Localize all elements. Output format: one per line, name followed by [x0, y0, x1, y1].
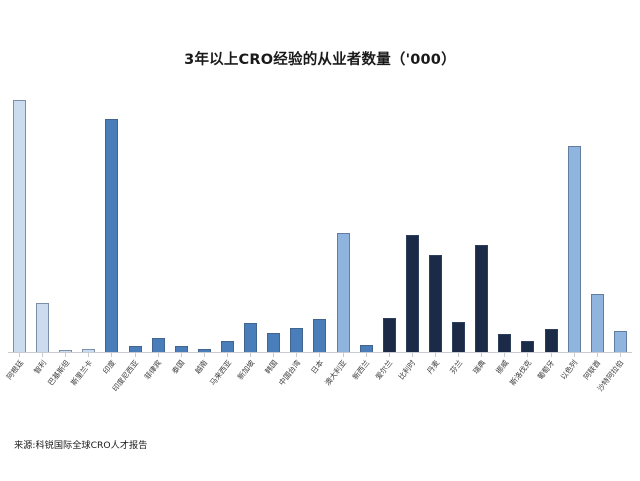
bar-slot — [193, 100, 216, 352]
x-axis-label-slot: 新加坡 — [239, 357, 262, 427]
x-axis-label-text: 丹麦 — [424, 358, 442, 376]
x-axis-label-slot: 智利 — [31, 357, 54, 427]
x-axis-label-text: 瑞典 — [470, 358, 488, 376]
bar-slot — [239, 100, 262, 352]
bar-slot — [447, 100, 470, 352]
x-axis-label-text: 阿根廷 — [3, 358, 25, 382]
bar-slot — [516, 100, 539, 352]
x-axis-label-text: 越南 — [193, 358, 211, 376]
bar-slot — [147, 100, 170, 352]
bar-slot — [424, 100, 447, 352]
chart-title: 3年以上CRO经验的从业者数量（'000） — [0, 48, 640, 69]
bar-slot — [54, 100, 77, 352]
x-axis-label-slot: 爱尔兰 — [378, 357, 401, 427]
x-axis-label-slot: 以色列 — [563, 357, 586, 427]
bar-slot — [285, 100, 308, 352]
x-axis-label-slot: 挪威 — [493, 357, 516, 427]
x-axis-label-text: 韩国 — [262, 358, 280, 376]
bar[interactable] — [452, 322, 465, 352]
bar[interactable] — [290, 328, 303, 352]
x-axis-label-slot: 日本 — [308, 357, 331, 427]
bar[interactable] — [105, 119, 118, 352]
bar-slot — [563, 100, 586, 352]
chart-figure: 3年以上CRO经验的从业者数量（'000） 阿根廷智利巴基斯坦斯里兰卡印度印度尼… — [0, 0, 640, 481]
x-axis-label-slot: 沙特阿拉伯 — [609, 357, 632, 427]
x-axis-label-slot: 阿联酋 — [586, 357, 609, 427]
bar-slot — [8, 100, 31, 352]
x-axis-label-text: 日本 — [308, 358, 326, 376]
bar[interactable] — [13, 100, 26, 352]
x-axis-label-slot: 中国台湾 — [285, 357, 308, 427]
bar[interactable] — [337, 233, 350, 352]
bar-slot — [540, 100, 563, 352]
x-axis-label-slot: 巴基斯坦 — [54, 357, 77, 427]
x-axis-label-slot: 斯里兰卡 — [77, 357, 100, 427]
bar[interactable] — [568, 146, 581, 352]
x-axis-label-text: 挪威 — [493, 358, 511, 376]
x-axis-label-slot: 印度 — [100, 357, 123, 427]
x-axis-label-text: 泰国 — [170, 358, 188, 376]
bar-slot — [609, 100, 632, 352]
bar-slot — [262, 100, 285, 352]
bar[interactable] — [36, 303, 49, 352]
x-axis-label-slot: 泰国 — [170, 357, 193, 427]
x-axis-label-text: 智利 — [31, 358, 49, 376]
bar[interactable] — [475, 245, 488, 352]
bar[interactable] — [406, 235, 419, 352]
bar-slot — [100, 100, 123, 352]
bars-container — [8, 100, 632, 352]
x-axis-label-slot: 菲律宾 — [147, 357, 170, 427]
x-axis-label-slot: 比利时 — [401, 357, 424, 427]
source-note: 来源:科锐国际全球CRO人才报告 — [14, 437, 147, 451]
x-axis-label-slot: 马来西亚 — [216, 357, 239, 427]
bar-slot — [378, 100, 401, 352]
x-axis-label-slot: 新西兰 — [355, 357, 378, 427]
bar-slot — [31, 100, 54, 352]
bar-slot — [170, 100, 193, 352]
bar-slot — [401, 100, 424, 352]
x-axis-labels: 阿根廷智利巴基斯坦斯里兰卡印度印度尼西亚菲律宾泰国越南马来西亚新加坡韩国中国台湾… — [8, 357, 632, 427]
x-axis-label-slot: 丹麦 — [424, 357, 447, 427]
bar[interactable] — [591, 294, 604, 352]
x-axis-label-text: 印度 — [100, 358, 118, 376]
bar-slot — [332, 100, 355, 352]
bar-slot — [586, 100, 609, 352]
x-axis-label-slot: 韩国 — [262, 357, 285, 427]
x-axis-label-slot: 葡萄牙 — [540, 357, 563, 427]
bar-slot — [77, 100, 100, 352]
x-axis-label-slot: 澳大利亚 — [332, 357, 355, 427]
x-axis-label-slot: 越南 — [193, 357, 216, 427]
x-axis-label-slot: 瑞典 — [470, 357, 493, 427]
bar-slot — [124, 100, 147, 352]
bar-slot — [470, 100, 493, 352]
x-axis-label-slot: 印度尼西亚 — [124, 357, 147, 427]
x-axis-label-slot: 斯洛伐克 — [516, 357, 539, 427]
plot-area — [8, 100, 632, 353]
bar-slot — [493, 100, 516, 352]
x-axis-label-text: 芬兰 — [447, 358, 465, 376]
bar-slot — [308, 100, 331, 352]
x-axis-label-slot: 阿根廷 — [8, 357, 31, 427]
bar-slot — [355, 100, 378, 352]
bar[interactable] — [429, 255, 442, 352]
bar-slot — [216, 100, 239, 352]
x-axis-label-slot: 芬兰 — [447, 357, 470, 427]
bar[interactable] — [498, 334, 511, 352]
